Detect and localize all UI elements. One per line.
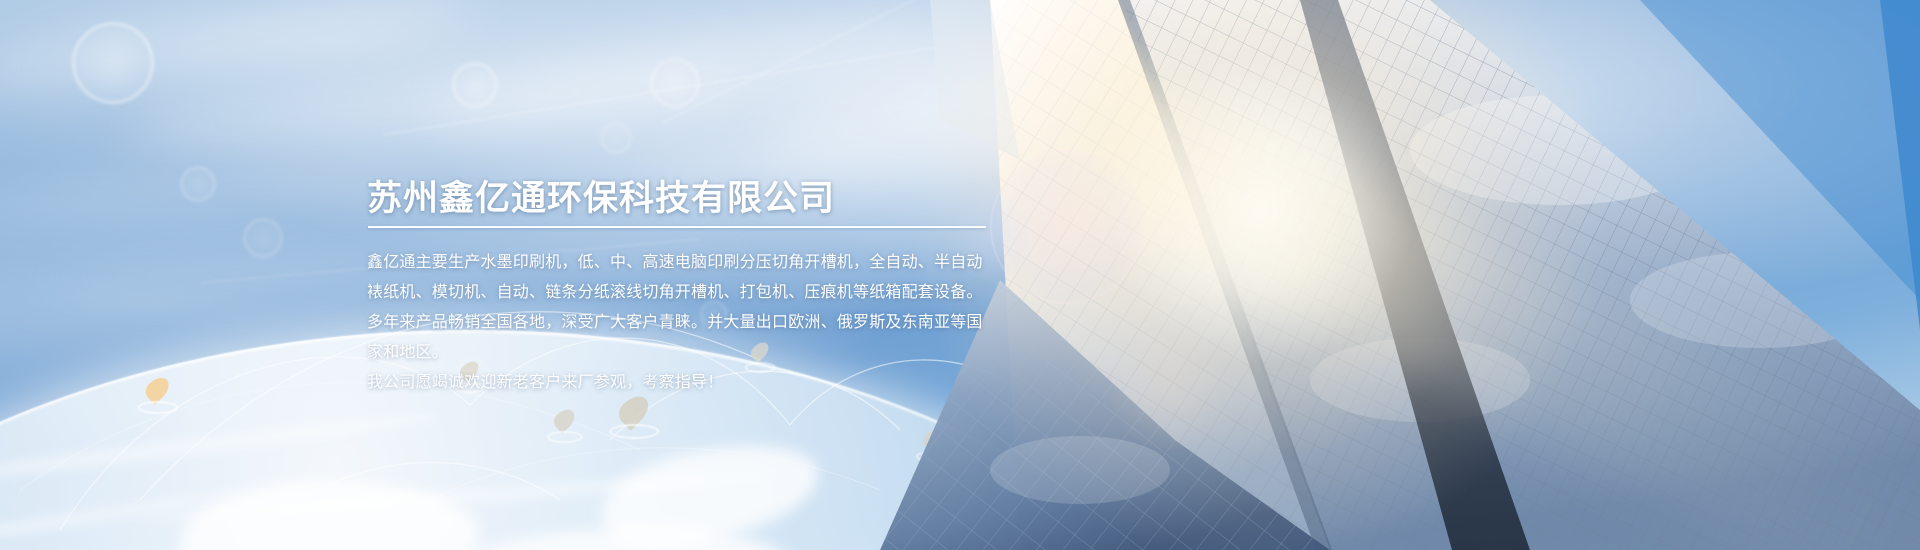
description-line: 鑫亿通主要生产水墨印刷机，低、中、高速电脑印刷分压切角开槽机，全自动、半自动 xyxy=(367,248,1007,278)
description-line: 我公司愿竭诚欢迎新老客户来厂参观，考察指导！ xyxy=(367,368,1007,398)
company-description: 鑫亿通主要生产水墨印刷机，低、中、高速电脑印刷分压切角开槽机，全自动、半自动 裱… xyxy=(367,248,1007,398)
banner-content: 苏州鑫亿通环保科技有限公司 鑫亿通主要生产水墨印刷机，低、中、高速电脑印刷分压切… xyxy=(367,0,1027,550)
description-line: 家和地区。 xyxy=(367,338,1007,368)
hero-banner: 苏州鑫亿通环保科技有限公司 鑫亿通主要生产水墨印刷机，低、中、高速电脑印刷分压切… xyxy=(0,0,1920,550)
description-line: 多年来产品畅销全国各地，深受广大客户青睐。并大量出口欧洲、俄罗斯及东南亚等国 xyxy=(367,308,1007,338)
title-divider xyxy=(368,226,986,228)
description-line: 裱纸机、模切机、自动、链条分纸滚线切角开槽机、打包机、压痕机等纸箱配套设备。 xyxy=(367,278,1007,308)
page-title: 苏州鑫亿通环保科技有限公司 xyxy=(367,170,835,221)
